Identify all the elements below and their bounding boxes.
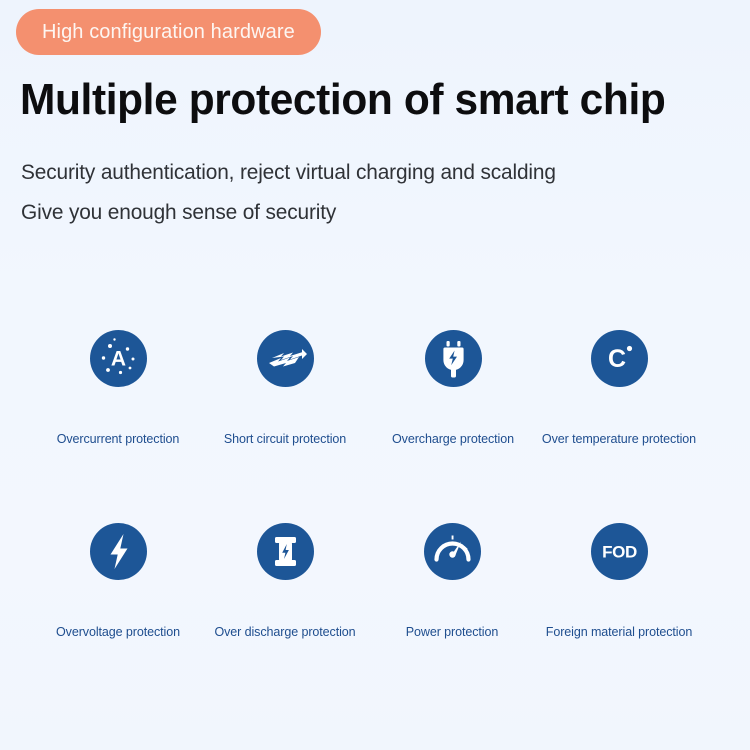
short-circuit-bolt-arrow-icon bbox=[257, 330, 314, 387]
badge-high-configuration-hardware: High configuration hardware bbox=[16, 9, 321, 55]
plug-bolt-icon bbox=[425, 330, 482, 387]
celsius-degree-icon: C bbox=[591, 330, 648, 387]
speedometer-gauge-icon bbox=[424, 523, 481, 580]
feature-item-over-temperature[interactable]: C Over temperature protection bbox=[519, 330, 719, 387]
feature-label-foreign-material: Foreign material protection bbox=[524, 623, 714, 640]
battery-bolt-icon bbox=[257, 523, 314, 580]
feature-label-over-temperature: Over temperature protection bbox=[524, 430, 714, 447]
feature-caption-wrap: Foreign material protection bbox=[519, 623, 719, 640]
feature-label-short-circuit: Short circuit protection bbox=[190, 430, 380, 447]
page-title: Multiple protection of smart chip bbox=[20, 72, 715, 128]
promo-banner: High configuration hardware Multiple pro… bbox=[0, 0, 750, 750]
feature-row-2: Overvoltage protection Over discharge pr… bbox=[0, 523, 750, 653]
subtitle-line-2: Give you enough sense of security bbox=[21, 192, 719, 232]
lightning-bolt-icon bbox=[90, 523, 147, 580]
subtitle-block: Security authentication, reject virtual … bbox=[21, 152, 741, 232]
feature-item-foreign-material[interactable]: FOD Foreign material protection bbox=[519, 523, 719, 580]
subtitle-line-1: Security authentication, reject virtual … bbox=[21, 152, 719, 192]
svg-text:C: C bbox=[607, 345, 625, 373]
svg-text:A: A bbox=[110, 348, 125, 371]
feature-caption-wrap: Over temperature protection bbox=[519, 430, 719, 447]
fod-glyph-label: FOD bbox=[602, 543, 637, 562]
ampere-a-dots-icon: A bbox=[90, 330, 147, 387]
fod-text-icon: FOD bbox=[591, 523, 648, 580]
feature-row-1: A Overcurrent protection bbox=[0, 330, 750, 460]
